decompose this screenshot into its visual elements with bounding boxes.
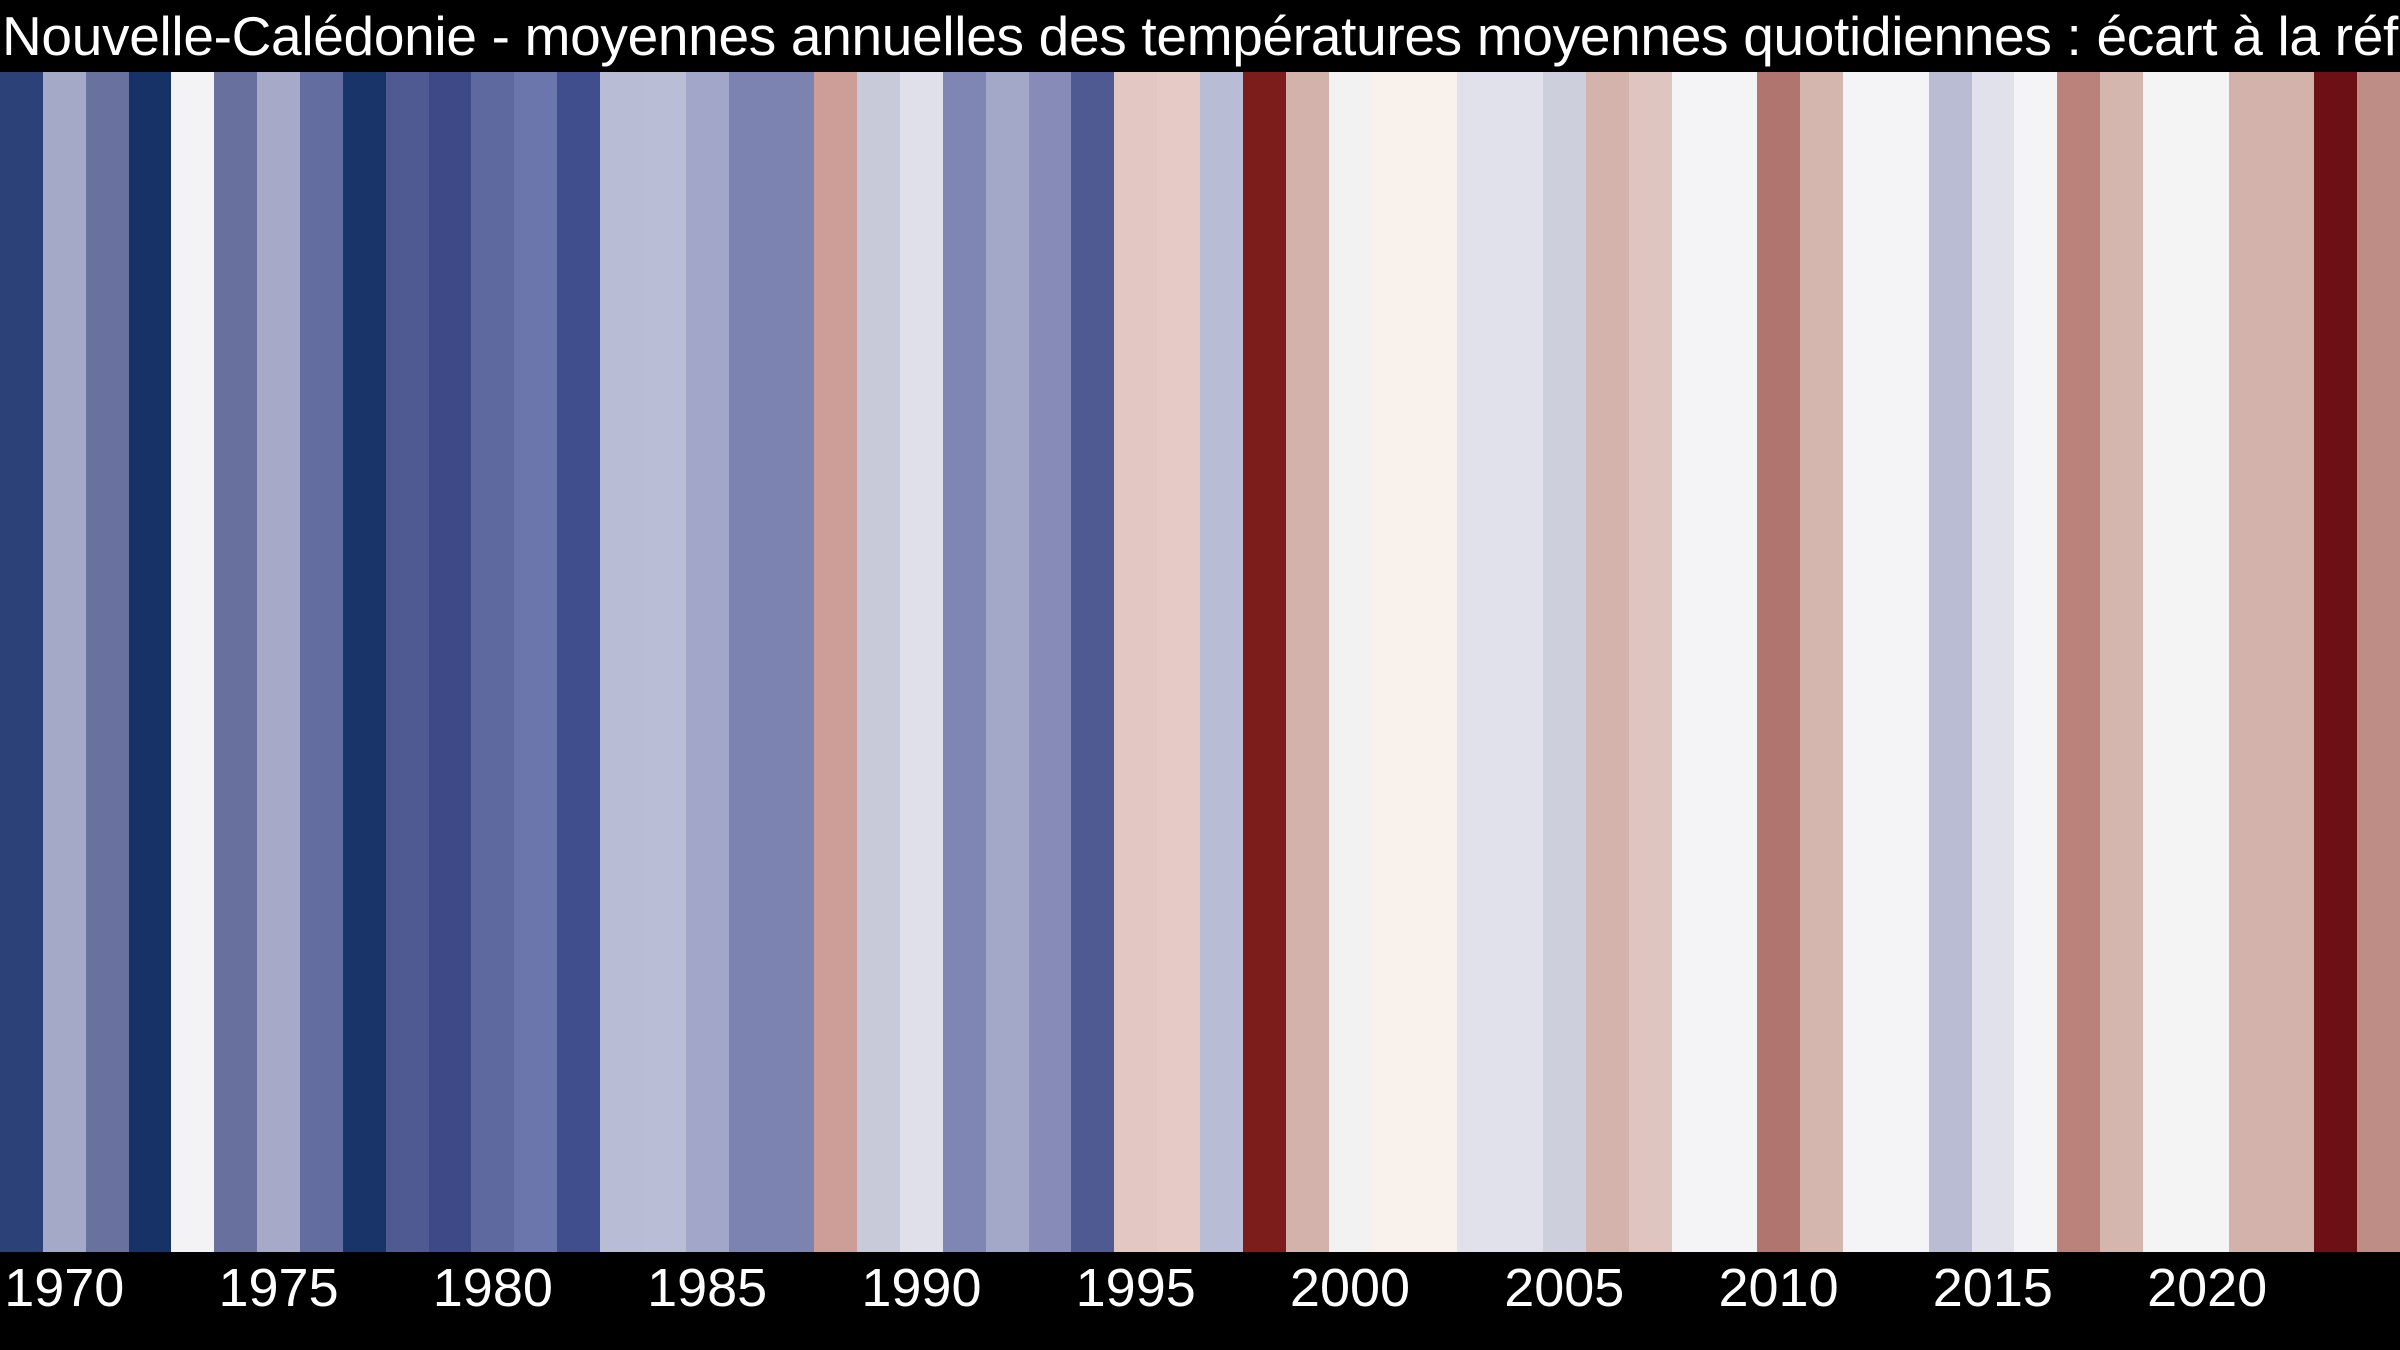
page-title: Nouvelle-Calédonie - moyennes annuelles …: [0, 0, 2400, 72]
year-stripe: [1800, 72, 1843, 1252]
year-stripe: [171, 72, 214, 1252]
year-stripe: [643, 72, 686, 1252]
year-stripe: [343, 72, 386, 1252]
year-stripe: [1029, 72, 1072, 1252]
year-stripe: [2229, 72, 2272, 1252]
year-stripe: [257, 72, 300, 1252]
year-stripe: [86, 72, 129, 1252]
axis-tick-label: 2005: [1504, 1256, 1624, 1320]
year-stripe: [1757, 72, 1800, 1252]
year-stripe: [1500, 72, 1543, 1252]
year-stripe: [686, 72, 729, 1252]
year-stripe: [1071, 72, 1114, 1252]
year-stripe: [943, 72, 986, 1252]
year-stripe: [1843, 72, 1886, 1252]
title-bar: Nouvelle-Calédonie - moyennes annuelles …: [0, 0, 2400, 72]
year-stripe: [1286, 72, 1329, 1252]
year-stripe: [1586, 72, 1629, 1252]
axis-tick-label: 2000: [1290, 1256, 1410, 1320]
year-stripe: [1243, 72, 1286, 1252]
year-stripe: [386, 72, 429, 1252]
year-stripe: [1972, 72, 2015, 1252]
year-stripe: [729, 72, 772, 1252]
year-stripe: [1543, 72, 1586, 1252]
year-stripe: [1200, 72, 1243, 1252]
year-stripe: [514, 72, 557, 1252]
year-stripe: [600, 72, 643, 1252]
axis-tick-label: 2015: [1933, 1256, 2053, 1320]
year-stripe: [1114, 72, 1157, 1252]
year-stripe: [2143, 72, 2186, 1252]
year-stripe: [1329, 72, 1372, 1252]
year-stripe: [814, 72, 857, 1252]
stripes-plot-area: [0, 72, 2400, 1252]
year-stripe: [2100, 72, 2143, 1252]
axis-tick-label: 1985: [647, 1256, 767, 1320]
year-stripe: [2357, 72, 2400, 1252]
year-stripe: [1457, 72, 1500, 1252]
axis-tick-label: 1980: [433, 1256, 553, 1320]
year-stripe: [1372, 72, 1415, 1252]
axis-tick-label: 2020: [2147, 1256, 2267, 1320]
year-stripe: [2186, 72, 2229, 1252]
year-stripe: [1714, 72, 1757, 1252]
axis-tick-label: 1995: [1076, 1256, 1196, 1320]
year-stripe: [557, 72, 600, 1252]
year-stripe: [214, 72, 257, 1252]
year-stripe: [1157, 72, 1200, 1252]
year-stripe: [1929, 72, 1972, 1252]
year-stripe: [900, 72, 943, 1252]
year-stripe: [2014, 72, 2057, 1252]
year-stripe: [2314, 72, 2357, 1252]
year-stripe: [0, 72, 43, 1252]
year-stripe: [471, 72, 514, 1252]
year-stripe: [1414, 72, 1457, 1252]
axis-tick-label: 1990: [861, 1256, 981, 1320]
x-axis: 1970197519801985199019952000200520102015…: [0, 1252, 2400, 1350]
axis-tick-label: 1975: [218, 1256, 338, 1320]
year-stripe: [771, 72, 814, 1252]
axis-tick-label: 2010: [1718, 1256, 1838, 1320]
year-stripe: [300, 72, 343, 1252]
warming-stripes-figure: Nouvelle-Calédonie - moyennes annuelles …: [0, 0, 2400, 1350]
year-stripe: [1886, 72, 1929, 1252]
year-stripe: [857, 72, 900, 1252]
year-stripe: [129, 72, 172, 1252]
year-stripe: [2272, 72, 2315, 1252]
year-stripe: [43, 72, 86, 1252]
year-stripe: [1629, 72, 1672, 1252]
year-stripe: [1672, 72, 1715, 1252]
axis-tick-label: 1970: [4, 1256, 124, 1320]
year-stripe: [986, 72, 1029, 1252]
year-stripe: [429, 72, 472, 1252]
year-stripe: [2057, 72, 2100, 1252]
